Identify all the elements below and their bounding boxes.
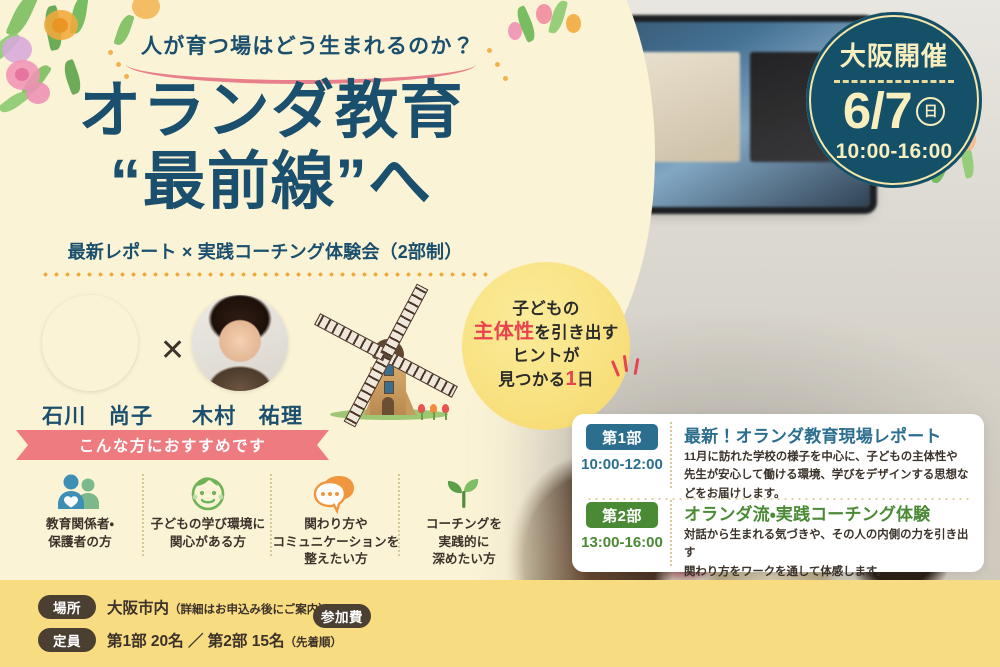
part-2-divider (670, 500, 672, 566)
part-2-title: オランダ流・実践コーチング体験 (684, 500, 930, 525)
badge-city: 大阪開催 (806, 36, 982, 73)
part-2-time: 13:00-16:00 (580, 534, 664, 551)
venue-label: 場所 (38, 595, 96, 619)
child-face-icon (144, 470, 272, 516)
part-1-badge: 第1部 (586, 424, 658, 450)
bubble-line-1: 子どもの (512, 299, 579, 320)
audience-item-2: 子どもの学び環境に 関心がある方 (144, 470, 272, 551)
bubble-highlight-word: 主体性 (473, 321, 534, 343)
capacity-row: 定員 第1部 20名 ／ 第2部 15名（先着順） (38, 628, 342, 652)
fee-label-wrap: 参加費 (313, 604, 371, 628)
part-1-time: 10:00-12:00 (580, 456, 664, 473)
speaker-2-avatar (192, 295, 288, 391)
subtitle: 最新レポート × 実践コーチング体験会（2部制） (40, 238, 490, 264)
part-2-description: 対話から生まれる気づきや、その人の内側の力を引き出す 関わり方をワークを通して体… (684, 526, 976, 581)
speaker-2: 木村 祐理 (192, 295, 303, 430)
audience-list: 教育関係者・ 保護者の方 子どもの学び環境に 関心がある方 (16, 470, 528, 569)
speaker-separator-icon: ✕ (160, 333, 185, 368)
audience-ribbon: こんな方におすすめです (40, 430, 305, 460)
venue-value: 大阪市内（詳細はお申込み後にご案内） (107, 596, 330, 618)
badge-day-of-week: 日 (916, 97, 945, 126)
windmill-icon (312, 305, 462, 420)
venue-row: 場所 大阪市内（詳細はお申込み後にご案内） (38, 595, 330, 619)
sparkle-accent-icon (612, 352, 646, 392)
sprout-plant-icon (400, 470, 528, 516)
speech-bubbles-icon (272, 470, 400, 516)
date-badge: 大阪開催 6/7日 10:00-16:00 (806, 12, 982, 188)
speaker-2-name: 木村 祐理 (192, 400, 303, 430)
part-1-description: 11月に訪れた学校の様子を中心に、子どもの主体性や 先生が安心して働ける環境、学… (684, 448, 976, 503)
event-poster: 人が育つ場はどう生まれるのか？ オランダ教育 “最前線”へ 最新レポート × 実… (0, 0, 1000, 667)
badge-date: 6/7 (843, 85, 912, 136)
audience-item-1-text: 教育関係者・ 保護者の方 (16, 516, 144, 551)
capacity-value: 第1部 20名 ／ 第2部 15名（先着順） (107, 629, 342, 651)
speaker-1: 石川 尚子 (42, 295, 153, 430)
speaker-1-name: 石川 尚子 (42, 400, 153, 430)
part-1-title: 最新！オランダ教育現場レポート (684, 422, 942, 447)
part-2-badge: 第2部 (586, 502, 658, 528)
program-panel: 第1部 10:00-12:00 最新！オランダ教育現場レポート 11月に訪れた学… (572, 414, 984, 572)
speaker-1-avatar (42, 295, 138, 391)
title-line-1: オランダ教育 (78, 76, 464, 146)
page-title: オランダ教育 “最前線”へ (56, 78, 486, 216)
fee-label: 参加費 (313, 604, 371, 628)
family-people-icon (16, 470, 144, 516)
audience-item-3: 関わり方や コミュニケーションを 整えたい方 (272, 470, 400, 569)
audience-item-4: コーチングを 実践的に 深めたい方 (400, 470, 528, 569)
bubble-line-3: ヒントが (512, 346, 579, 367)
bubble-day-count: 1 (566, 368, 577, 390)
audience-item-2-text: 子どもの学び環境に 関心がある方 (144, 516, 272, 551)
part-1-divider (670, 422, 672, 488)
program-part-2: 第2部 13:00-16:00 オランダ流・実践コーチング体験 対話から生まれる… (572, 498, 984, 572)
dotted-divider (40, 272, 490, 277)
title-line-2: “最前線”へ (56, 149, 486, 216)
bubble-line-4: 見つかる1日 (498, 367, 594, 393)
audience-item-1: 教育関係者・ 保護者の方 (16, 470, 144, 551)
audience-item-3-text: 関わり方や コミュニケーションを 整えたい方 (272, 516, 400, 569)
capacity-label: 定員 (38, 628, 96, 652)
program-part-1: 第1部 10:00-12:00 最新！オランダ教育現場レポート 11月に訪れた学… (572, 420, 984, 494)
audience-item-4-text: コーチングを 実践的に 深めたい方 (400, 516, 528, 569)
footer-bar: 場所 大阪市内（詳細はお申込み後にご案内） 定員 第1部 20名 ／ 第2部 1… (0, 580, 1000, 667)
highlight-bubble: 子どもの 主体性を引き出す ヒントが 見つかる1日 (462, 262, 630, 430)
kicker-text: 人が育つ場はどう生まれるのか？ (118, 30, 498, 60)
bubble-line-2: 主体性を引き出す (473, 320, 618, 346)
badge-time: 10:00-16:00 (806, 140, 982, 164)
